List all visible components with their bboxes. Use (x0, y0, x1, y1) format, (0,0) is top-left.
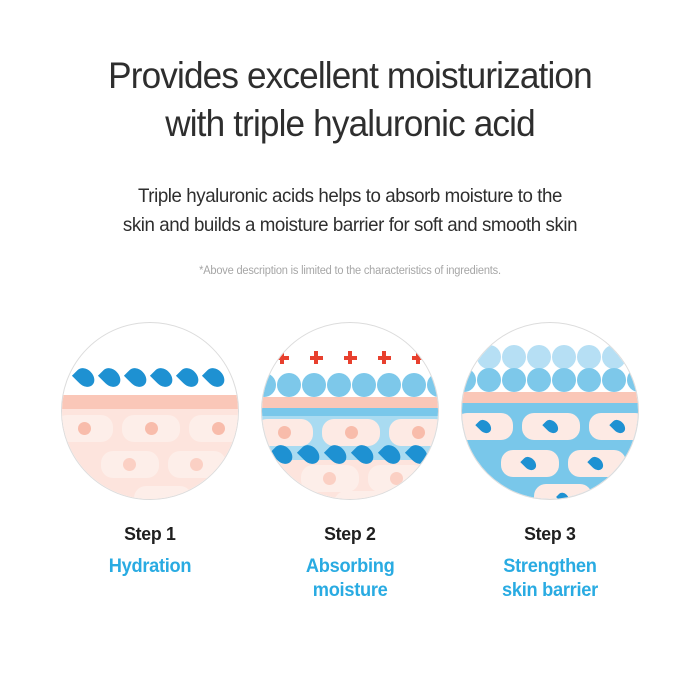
skin-cell-row (507, 484, 619, 500)
page-subtitle-line-2: skin and builds a moisture barrier for s… (14, 211, 686, 240)
molecule-bubble-icon (502, 368, 526, 392)
molecule-bubble-icon (352, 373, 376, 397)
plus-icon (344, 351, 357, 364)
skin-surface-band (262, 397, 438, 408)
disclaimer-note: *Above description is limited to the cha… (14, 265, 686, 277)
plus-sign-row (262, 351, 438, 364)
step-1-subtitle: Hydration (109, 555, 192, 579)
cell-nucleus (390, 472, 403, 485)
molecule-bubble-icon (277, 373, 301, 397)
skin-cell-row (307, 491, 419, 500)
skin-surface-band (462, 392, 638, 403)
water-droplet-icon (377, 441, 403, 467)
step-1-subtitle-line-1: Hydration (109, 555, 192, 579)
water-droplet-icon (609, 417, 627, 435)
droplet-row-absorbing (262, 444, 438, 465)
plus-icon (378, 351, 391, 364)
plus-icon (412, 351, 425, 364)
water-droplet-icon (404, 441, 430, 467)
water-droplet-icon (587, 454, 605, 472)
molecule-bubble-icon (327, 373, 351, 397)
strengthen-skin-barrier-diagram (461, 322, 639, 500)
molecule-bubble-icon (427, 373, 440, 397)
skin-cell (389, 419, 439, 446)
molecule-bubble-icon (502, 345, 526, 369)
cell-nucleus (345, 426, 358, 439)
moisture-band (262, 408, 438, 416)
cell-nucleus (412, 426, 425, 439)
skin-cell-row (261, 419, 439, 446)
cell-nucleus (190, 458, 203, 471)
skin-cell-row (84, 451, 239, 478)
cell-nucleus (278, 426, 291, 439)
water-droplet-icon (556, 490, 571, 500)
absorbing-moisture-diagram (261, 322, 439, 500)
step-1: Step 1 Hydration (60, 322, 240, 603)
molecule-bubble-icon (552, 368, 576, 392)
cell-nucleus (323, 472, 336, 485)
step-3-subtitle-line-2: skin barrier (502, 579, 598, 603)
skin-cell (522, 413, 580, 440)
water-droplet-icon (124, 364, 150, 390)
cell-nucleus (78, 422, 91, 435)
molecule-bubble-icon (602, 368, 626, 392)
water-droplet-icon (150, 364, 176, 390)
molecule-bubble-icon (577, 368, 601, 392)
skin-cell (134, 486, 192, 500)
cell-nucleus (145, 422, 158, 435)
skin-cell (589, 413, 639, 440)
molecule-bubble-icon (261, 373, 276, 397)
skin-cell-row (284, 465, 439, 492)
steps-row: Step 1 Hydration (0, 322, 700, 603)
water-droplet-icon (98, 364, 124, 390)
skin-cell (534, 484, 592, 500)
skin-cell (189, 415, 239, 442)
step-2-subtitle: Absorbing moisture (306, 555, 395, 603)
product-infographic-page: { "header": { "headline_line1": "Provide… (0, 0, 700, 700)
skin-cell (122, 415, 180, 442)
skin-cell (322, 419, 380, 446)
water-droplet-icon (296, 441, 322, 467)
molecule-bubble-icon (577, 345, 601, 369)
skin-surface-band (62, 395, 238, 409)
skin-cell-row (107, 486, 219, 500)
water-droplet-icon (542, 417, 560, 435)
step-1-title: Step 1 (124, 523, 176, 545)
page-title-line-2: with triple hyaluronic acid (18, 100, 683, 148)
molecule-bubble-icon (527, 345, 551, 369)
water-droplet-icon (350, 441, 376, 467)
skin-cell-row (61, 415, 239, 442)
molecule-bubble-icon (377, 373, 401, 397)
step-3-subtitle: Strengthen skin barrier (502, 555, 598, 603)
molecule-bubble-icon (552, 345, 576, 369)
water-droplet-icon (176, 364, 202, 390)
plus-icon (276, 351, 289, 364)
skin-cell-row (484, 450, 639, 477)
molecule-bubble-icon (402, 373, 426, 397)
step-3: Step 3 Strengthen skin barrier (460, 322, 640, 603)
cell-nucleus (123, 458, 136, 471)
step-2-title: Step 2 (324, 523, 376, 545)
skin-cell (501, 450, 559, 477)
skin-cell (61, 415, 113, 442)
water-droplet-icon (202, 364, 228, 390)
skin-cell-row (461, 413, 639, 440)
skin-cell (461, 413, 513, 440)
hydration-diagram (61, 322, 239, 500)
skin-cell (301, 465, 359, 492)
molecule-bubble-icon (477, 368, 501, 392)
step-3-title: Step 3 (524, 523, 576, 545)
hyaluronic-molecule-row (461, 368, 639, 392)
water-droplet-icon (520, 454, 538, 472)
page-subtitle: Triple hyaluronic acids helps to absorb … (14, 182, 686, 240)
molecule-bubble-icon (602, 345, 626, 369)
molecule-bubble-icon (627, 345, 640, 369)
plus-icon (310, 351, 323, 364)
skin-cell (568, 450, 626, 477)
hyaluronic-molecule-row (461, 345, 639, 369)
step-2-subtitle-line-2: moisture (306, 579, 395, 603)
water-droplet-icon (475, 417, 493, 435)
step-3-subtitle-line-1: Strengthen (502, 555, 598, 579)
water-droplet-icon (72, 364, 98, 390)
skin-cell (261, 419, 313, 446)
water-droplet-icon (323, 441, 349, 467)
molecule-bubble-icon (477, 345, 501, 369)
cell-nucleus (212, 422, 225, 435)
molecule-bubble-icon (627, 368, 640, 392)
water-droplet-icon (269, 441, 295, 467)
droplet-row-surface (62, 367, 238, 388)
molecule-bubble-icon (527, 368, 551, 392)
page-title-line-1: Provides excellent moisturization (18, 52, 683, 100)
skin-cell (168, 451, 226, 478)
skin-cell (334, 491, 392, 500)
skin-cell (101, 451, 159, 478)
molecule-bubble-icon (461, 345, 476, 369)
step-2: Step 2 Absorbing moisture (260, 322, 440, 603)
molecule-bubble-icon (461, 368, 476, 392)
skin-cell (368, 465, 426, 492)
page-title: Provides excellent moisturization with t… (18, 52, 683, 148)
page-subtitle-line-1: Triple hyaluronic acids helps to absorb … (14, 182, 686, 211)
molecule-bubble-icon (302, 373, 326, 397)
step-2-subtitle-line-1: Absorbing (306, 555, 395, 579)
hyaluronic-molecule-row (261, 373, 439, 397)
